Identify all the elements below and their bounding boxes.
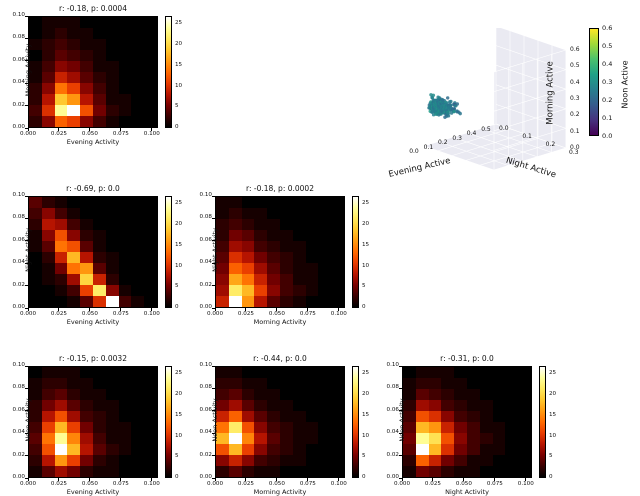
heatmap-cell [318,197,331,208]
heatmap-cell [293,219,306,230]
heatmap-cell [242,400,255,411]
heatmap-cell [93,219,106,230]
heatmap-cell [144,241,157,252]
heatmap-cell [80,252,93,263]
heatmap-cell [144,17,157,28]
scatter3d-tick-label: 0.1 [424,144,434,151]
colorbar-tick-label: 0.4 [602,60,612,68]
scatter3d-tick-label: 0.3 [452,135,462,142]
heatmap-cell [119,263,132,274]
x-tick-mark [245,308,246,311]
heatmap-cell [242,411,255,422]
heatmap-cell [55,389,68,400]
heatmap-cell [280,296,293,307]
heatmap-cell [280,367,293,378]
heatmap-cell [254,208,267,219]
heatmap-cell [318,400,331,411]
heatmap-cell [131,230,144,241]
y-tick-label: 0.08 [193,214,212,220]
colorbar-tick-label: 0.5 [602,42,612,50]
heatmap-cell [331,219,344,230]
y-tick-label: 0.10 [380,362,399,368]
scatter-point [456,102,459,105]
heatmap-cell [106,389,119,400]
y-tick-label: 0.04 [6,429,25,435]
heatmap-cell [42,466,55,477]
heatmap-cell [67,296,80,307]
heatmap-cell [293,455,306,466]
y-tick-label: 0.04 [193,429,212,435]
y-tick-label: 0.06 [6,407,25,413]
heatmap-cell [67,17,80,28]
colorbar-tick-label: 0.1 [602,114,612,122]
heatmap-cell [93,72,106,83]
heatmap-cell [144,444,157,455]
x-tick-label: 0.100 [326,311,352,317]
y-tick-label: 0.04 [380,429,399,435]
heatmap-cell [229,444,242,455]
heatmap-cell [518,466,531,477]
heatmap-cell [131,28,144,39]
heatmap-cell [55,105,68,116]
heatmap-cell [331,197,344,208]
heatmap-cell [318,455,331,466]
scatter3d-tick-label: 0.3 [570,95,580,102]
colorbar-tick-label: 5 [549,453,553,459]
heatmap-cell [119,466,132,477]
heatmap-cell [293,208,306,219]
scatter-point [459,112,462,115]
scatter-points [427,93,462,119]
heatmap-cell [80,61,93,72]
heatmap-cell [106,455,119,466]
heatmap-cell [454,389,467,400]
heatmap-cell [318,444,331,455]
colorbar-tick-label: 20 [175,391,182,397]
heatmap-cell [93,197,106,208]
heatmap-cell [144,28,157,39]
x-axis-label: Evening Activity [28,488,158,496]
heatmap-cell [467,466,480,477]
scatter3d-tick-label: 0.0 [570,144,580,151]
y-tick-label: 0.02 [6,102,25,108]
heatmap-cell [518,400,531,411]
panel-noon-vs-evening: r: -0.15, p: 0.0032 0.000.020.040.060.08… [28,366,158,478]
heatmap-cell [42,367,55,378]
heatmap-cell [242,378,255,389]
x-tick-mark [151,128,152,131]
heatmap-cell [131,241,144,252]
heatmap-cell [280,219,293,230]
heatmap-cell [293,285,306,296]
x-tick-label: 0.075 [108,311,134,317]
panel-3d-scatter: 0.00.10.20.30.40.50.00.10.20.30.00.10.20… [372,28,572,188]
heatmap-cell [144,61,157,72]
heatmap-cell [106,219,119,230]
heatmap-cell [293,274,306,285]
heatmap-cell [518,444,531,455]
heatmap-cell [80,411,93,422]
heatmap-cell [106,28,119,39]
heatmap-cell [242,466,255,477]
heatmap-cell [119,105,132,116]
heatmap-cell [454,444,467,455]
colorbar [165,196,172,308]
heatmap-cell [55,367,68,378]
heatmap-cell [144,116,157,127]
heatmap-cell [144,83,157,94]
heatmap-cell [441,433,454,444]
heatmap-cell [267,433,280,444]
x-tick-mark [245,478,246,481]
y-axis-label: Noon Activity [398,364,406,476]
heatmap-cell [293,263,306,274]
heatmap-cell [429,466,442,477]
heatmap-cell [67,263,80,274]
heatmap-cell [454,378,467,389]
heatmap-cell [144,296,157,307]
heatmap-cell [80,400,93,411]
y-tick-label: 0.02 [193,282,212,288]
heatmap-cell [242,433,255,444]
heatmap-cell [67,400,80,411]
heatmap-cell [93,263,106,274]
heatmap-cell [331,274,344,285]
heatmap-cell [280,241,293,252]
heatmap-cell [306,219,319,230]
heatmap-cell [441,378,454,389]
panel-noon-vs-morning: r: -0.44, p: 0.0 0.000.020.040.060.080.1… [215,366,345,478]
heatmap-cell [416,389,429,400]
heatmap-cell [242,197,255,208]
heatmap-cell [441,411,454,422]
heatmap-cell [254,296,267,307]
heatmap-cell [331,252,344,263]
heatmap-cell [67,83,80,94]
y-axis-label: Night Activity [211,194,219,306]
heatmap-cell [80,378,93,389]
colorbar-tick-label: 0 [175,124,179,130]
heatmap-cell [144,466,157,477]
heatmap-cell [55,28,68,39]
heatmap-cell [119,116,132,127]
x-tick-label: 0.025 [233,311,259,317]
heatmap-cell [67,411,80,422]
heatmap-cell [331,422,344,433]
heatmap-cell [144,208,157,219]
colorbar-tick-label: 10 [549,433,556,439]
heatmap-cell [480,400,493,411]
heatmap-cell [480,367,493,378]
x-tick-mark [58,128,59,131]
heatmap-cell [280,455,293,466]
heatmap-cell [93,455,106,466]
x-tick-mark [215,478,216,481]
heatmap-cell [131,455,144,466]
heatmap-cell [93,28,106,39]
heatmap-cell [80,466,93,477]
heatmap-cell [493,455,506,466]
colorbar-gradient [590,29,598,135]
heatmap-cell [306,241,319,252]
heatmap-cell [55,83,68,94]
heatmap-cell [229,285,242,296]
heatmap-cell [306,411,319,422]
heatmap-cell [42,263,55,274]
heatmap-cell [80,455,93,466]
heatmap-cell [42,219,55,230]
colorbar-tick-label: 0 [175,304,179,310]
y-tick-label: 0.00 [380,474,399,480]
heatmap-cell [42,94,55,105]
heatmap-cell [144,94,157,105]
heatmap-cell [280,433,293,444]
heatmap-cell [55,400,68,411]
heatmap-cell [229,241,242,252]
x-tick-mark [120,478,121,481]
heatmap-cell [505,433,518,444]
heatmap-cells [216,367,344,477]
heatmap-cell [144,422,157,433]
heatmap-cell [106,50,119,61]
heatmap-cell [80,105,93,116]
heatmap-cell [144,400,157,411]
heatmap-cell [67,422,80,433]
heatmap-cell [441,389,454,400]
heatmap-cell [80,296,93,307]
heatmap-cell [429,378,442,389]
x-tick-label: 0.000 [15,131,41,137]
x-tick-label: 0.050 [77,131,103,137]
heatmap-cell [67,444,80,455]
heatmap-cell [80,28,93,39]
heatmap-cell [67,274,80,285]
x-tick-mark [89,308,90,311]
heatmap-cell [280,263,293,274]
heatmap-cell [318,411,331,422]
heatmap-cell [93,378,106,389]
x-tick-label: 0.050 [77,311,103,317]
heatmap-cell [42,252,55,263]
heatmap-cell [254,230,267,241]
heatmap-cell [493,378,506,389]
heatmap-cell [293,378,306,389]
heatmap-cell [306,455,319,466]
colorbar-tick-label: 25 [362,200,369,206]
heatmap-cells [403,367,531,477]
panel-title: r: -0.44, p: 0.0 [215,354,345,363]
heatmap-cell [229,455,242,466]
scatter3d-zlabel: Morning Active [546,61,556,124]
heatmap-cell [106,61,119,72]
heatmap-cell [416,411,429,422]
heatmap-cell [254,455,267,466]
heatmap-cell [293,389,306,400]
heatmap-cell [493,400,506,411]
colorbar-tick-label: 25 [362,370,369,376]
colorbar-tick-label: 10 [362,263,369,269]
heatmap-cell [119,208,132,219]
heatmap-cell [518,378,531,389]
scatter3d-tick-label: 0.2 [438,139,448,146]
colorbar-tick-label: 20 [175,221,182,227]
y-tick-label: 0.02 [6,452,25,458]
heatmap-cell [318,219,331,230]
heatmap-cell [119,400,132,411]
heatmap-cell [131,411,144,422]
panel-title: r: -0.69, p: 0.0 [28,184,158,193]
heatmap-cell [429,389,442,400]
heatmap-cell [242,263,255,274]
y-tick-label: 0.02 [193,452,212,458]
heatmap-cell [55,17,68,28]
scatter3d-tick-label: 0.2 [570,111,580,118]
heatmap-cell [131,39,144,50]
heatmap-cell [42,208,55,219]
heatmap-cell [306,285,319,296]
heatmap-cell [67,50,80,61]
heatmap-cell [131,83,144,94]
heatmap-cell [280,444,293,455]
y-tick-label: 0.00 [193,304,212,310]
heatmap-cell [505,444,518,455]
heatmap-cell [93,274,106,285]
heatmap-cell [254,378,267,389]
heatmap-cell [254,252,267,263]
heatmap-cell [93,208,106,219]
y-tick-label: 0.08 [193,384,212,390]
heatmap-cell [480,411,493,422]
x-tick-label: 0.025 [46,311,72,317]
colorbar-tick-label: 5 [362,453,366,459]
x-tick-mark [89,478,90,481]
heatmap-cell [254,466,267,477]
heatmap-cell [467,455,480,466]
heatmap-cell [93,61,106,72]
heatmap-cell [242,285,255,296]
x-tick-mark [28,308,29,311]
heatmap-cell [93,39,106,50]
scatter3d-tick-label: 0.5 [481,126,491,133]
colorbar [352,196,359,308]
heatmap-cell [42,400,55,411]
scatter3d-tick-label: 0.6 [570,46,580,53]
heatmap-cell [229,389,242,400]
heatmap-cell [67,219,80,230]
heatmap-cell [55,274,68,285]
x-tick-mark [402,478,403,481]
y-tick-label: 0.04 [193,259,212,265]
colorbar-tick-label: 10 [175,263,182,269]
heatmap-cell [106,241,119,252]
colorbar-gradient [353,367,358,477]
heatmap-cell [55,241,68,252]
heatmap-plot [28,196,158,308]
x-axis-label: Night Activity [402,488,532,496]
scatter-point [449,100,452,103]
heatmap-cell [131,50,144,61]
heatmap-cell [106,252,119,263]
heatmap-cell [267,422,280,433]
heatmap-cell [144,367,157,378]
heatmap-cell [254,433,267,444]
heatmap-cell [42,389,55,400]
heatmap-cell [93,105,106,116]
y-tick-label: 0.10 [6,12,25,18]
y-tick-label: 0.10 [6,362,25,368]
heatmap-cell [55,208,68,219]
heatmap-cell [80,433,93,444]
heatmap-cell [42,39,55,50]
x-tick-mark [89,128,90,131]
heatmap-cell [331,411,344,422]
heatmap-cell [131,116,144,127]
heatmap-cell [106,433,119,444]
heatmap-cell [106,72,119,83]
heatmap-cell [131,197,144,208]
y-tick-label: 0.08 [6,34,25,40]
heatmap-cell [454,466,467,477]
panel-night-vs-evening: r: -0.69, p: 0.0 0.000.020.040.060.080.1… [28,196,158,308]
x-tick-mark [276,478,277,481]
heatmap-cell [306,263,319,274]
heatmap-cell [267,230,280,241]
x-tick-mark [525,478,526,481]
heatmap-cell [106,285,119,296]
heatmap-cell [42,61,55,72]
heatmap-cell [416,400,429,411]
heatmap-cell [518,422,531,433]
heatmap-cell [306,230,319,241]
heatmap-cell [106,208,119,219]
colorbar-gradient [540,367,545,477]
heatmap-cell [293,444,306,455]
heatmap-cell [318,378,331,389]
heatmap-cell [267,219,280,230]
heatmap-cell [106,400,119,411]
heatmap-cell [42,116,55,127]
heatmap-cell [119,17,132,28]
heatmap-cell [318,367,331,378]
heatmap-cell [144,50,157,61]
heatmap-cell [229,263,242,274]
y-tick-label: 0.04 [6,259,25,265]
heatmap-cell [254,241,267,252]
heatmap-cell [119,83,132,94]
heatmap-cell [280,285,293,296]
heatmap-cell [80,197,93,208]
heatmap-cell [42,296,55,307]
heatmap-cell [131,285,144,296]
heatmap-cell [131,105,144,116]
colorbar-tick-label: 15 [549,412,556,418]
heatmap-cell [467,433,480,444]
x-axis-label: Evening Activity [28,138,158,146]
heatmap-cell [280,274,293,285]
heatmap-cell [306,378,319,389]
heatmap-cell [242,444,255,455]
heatmap-cell [55,61,68,72]
heatmap-cell [119,197,132,208]
heatmap-cell [331,389,344,400]
x-tick-mark [151,308,152,311]
heatmap-cell [67,94,80,105]
heatmap-cell [131,444,144,455]
heatmap-cell [131,252,144,263]
heatmap-cell [318,274,331,285]
panel-title: r: -0.31, p: 0.0 [402,354,532,363]
x-tick-mark [494,478,495,481]
